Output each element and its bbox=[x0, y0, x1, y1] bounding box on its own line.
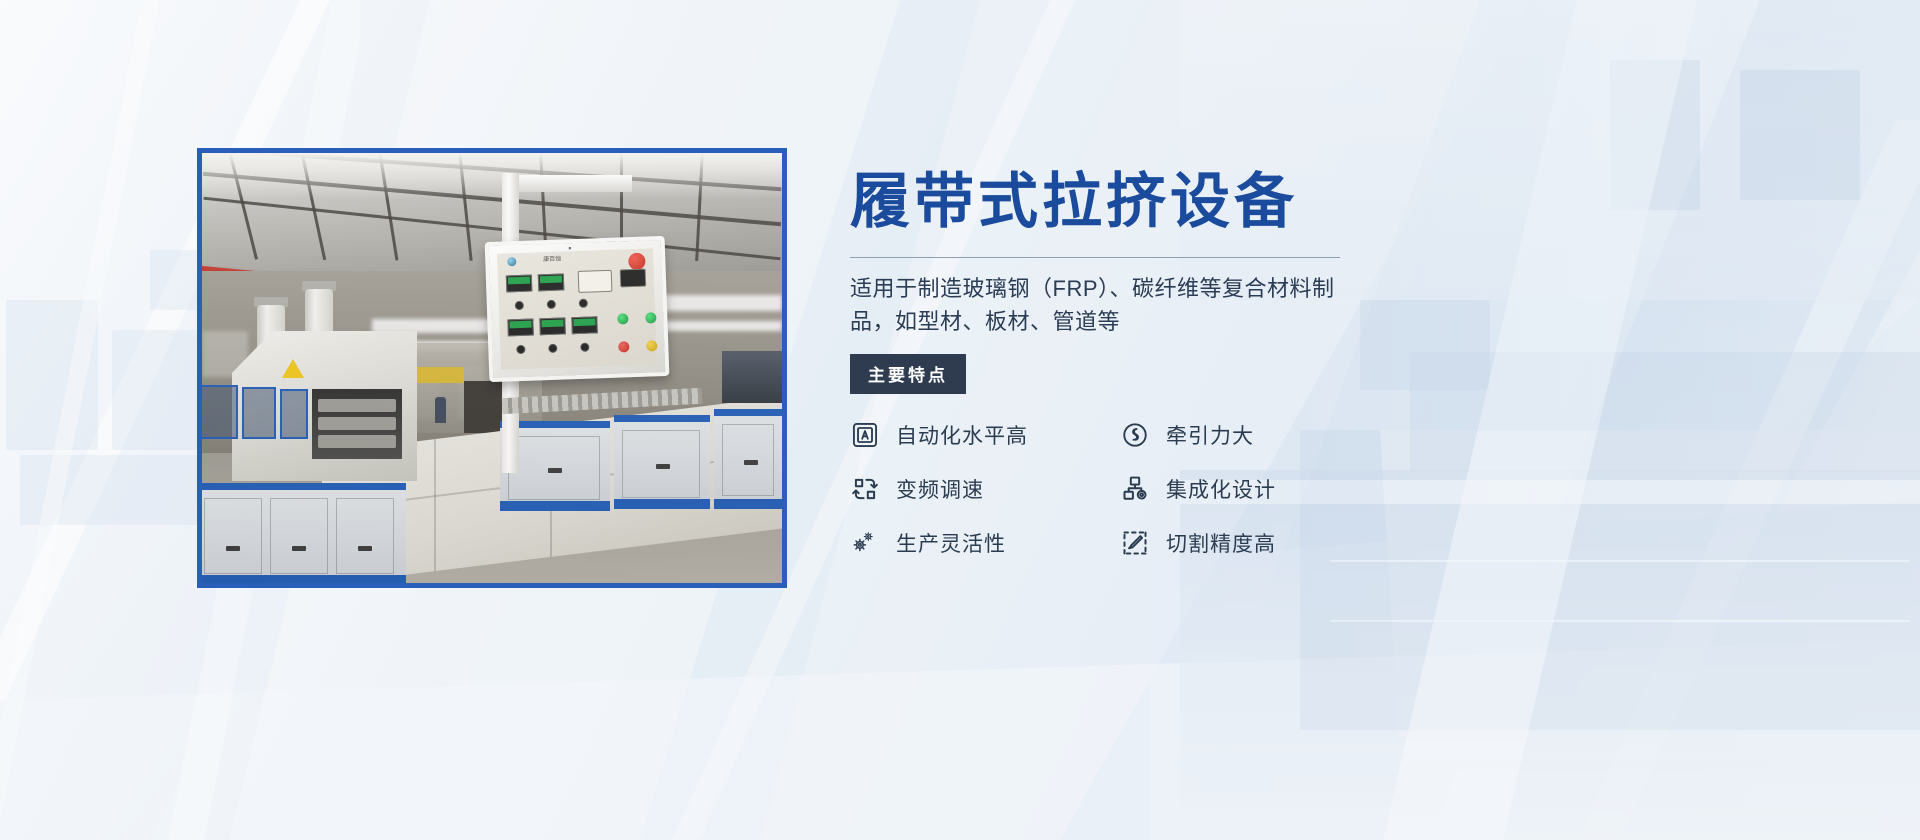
title-divider bbox=[850, 257, 1340, 258]
photo-panel-arm bbox=[502, 175, 632, 192]
feature-item-traction[interactable]: 牵引力大 bbox=[1120, 420, 1360, 450]
feature-label: 变频调速 bbox=[896, 474, 984, 504]
photo-guard-window-1 bbox=[198, 385, 238, 439]
feature-label: 牵引力大 bbox=[1166, 420, 1254, 450]
feature-label: 自动化水平高 bbox=[896, 420, 1028, 450]
integration-icon bbox=[1120, 474, 1150, 504]
status-badge: 主要特点 bbox=[850, 354, 966, 394]
feature-label: 切割精度高 bbox=[1166, 528, 1276, 558]
photo-guard-window-2 bbox=[242, 387, 276, 439]
photo-cabinet-right-3 bbox=[714, 409, 784, 509]
frequency-icon bbox=[850, 474, 880, 504]
photo-guard-window-3 bbox=[280, 389, 308, 439]
product-description: 适用于制造玻璃钢（FRP）、碳纤维等复合材料制品，如型材、板材、管道等 bbox=[850, 272, 1340, 338]
feature-item-flexibility[interactable]: 生产灵活性 bbox=[850, 528, 1120, 558]
photo-roof-light bbox=[202, 153, 782, 199]
feature-list: 自动化水平高 牵引力大 bbox=[850, 420, 1360, 558]
photo-control-panel: 康百恒 bbox=[485, 236, 670, 382]
photo-cabinet-left bbox=[197, 483, 406, 585]
feature-item-frequency[interactable]: 变频调速 bbox=[850, 474, 1120, 504]
page-title: 履带式拉挤设备 bbox=[850, 168, 1370, 235]
traction-icon bbox=[1120, 420, 1150, 450]
feature-item-precision[interactable]: 切割精度高 bbox=[1120, 528, 1360, 558]
photo-cabinet-right-2 bbox=[614, 415, 710, 509]
feature-label: 生产灵活性 bbox=[896, 528, 1006, 558]
photo-panel-brand: 康百恒 bbox=[543, 254, 561, 264]
feature-item-automation[interactable]: 自动化水平高 bbox=[850, 420, 1120, 450]
photo-warning-triangle-icon bbox=[282, 359, 304, 378]
gears-icon bbox=[850, 528, 880, 558]
product-banner: 生 产 严 禁 超 载 bbox=[0, 0, 1920, 840]
photo-press-opening bbox=[312, 389, 402, 459]
photo-right-machine-dark bbox=[722, 351, 784, 403]
banner-content: 履带式拉挤设备 适用于制造玻璃钢（FRP）、碳纤维等复合材料制品，如型材、板材、… bbox=[850, 150, 1370, 558]
product-photo: 生 产 严 禁 超 载 bbox=[197, 148, 787, 588]
automation-icon bbox=[850, 420, 880, 450]
feature-item-integration[interactable]: 集成化设计 bbox=[1120, 474, 1360, 504]
feature-label: 集成化设计 bbox=[1166, 474, 1276, 504]
photo-worker bbox=[435, 397, 446, 423]
precision-icon bbox=[1120, 528, 1150, 558]
